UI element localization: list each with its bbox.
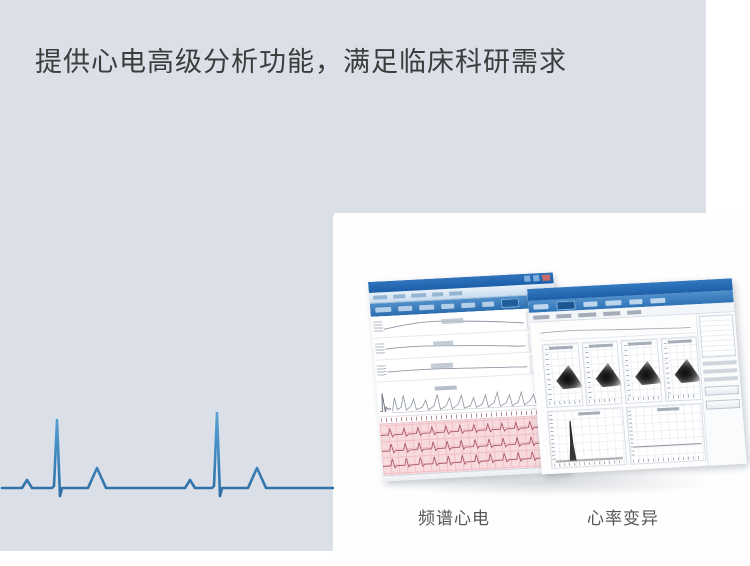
toolbar-button[interactable] bbox=[375, 307, 391, 313]
side-panel-button[interactable] bbox=[706, 399, 741, 410]
toolbar-button[interactable] bbox=[461, 302, 475, 308]
window-title-text bbox=[372, 283, 374, 288]
toolbar-button[interactable] bbox=[398, 306, 412, 312]
histogram-row bbox=[547, 400, 707, 469]
parameter-list[interactable] bbox=[699, 314, 736, 358]
toolbar-button[interactable] bbox=[605, 300, 621, 306]
tab-item[interactable] bbox=[533, 314, 549, 319]
poincare-plot[interactable] bbox=[581, 340, 623, 406]
tab-item[interactable] bbox=[556, 313, 571, 318]
poincare-plot-row bbox=[541, 333, 701, 408]
window-title-text bbox=[531, 291, 533, 296]
toolbar-button[interactable] bbox=[533, 303, 548, 309]
plot-grid bbox=[627, 404, 705, 464]
ecg-waveform bbox=[0, 400, 345, 510]
toolbar-button[interactable] bbox=[441, 304, 454, 310]
toolbar-button-active[interactable] bbox=[556, 300, 576, 310]
toolbar-button[interactable] bbox=[629, 298, 642, 304]
trend-annotation bbox=[433, 341, 453, 347]
hrv-plot-area bbox=[530, 314, 708, 474]
poincare-plot[interactable] bbox=[620, 338, 662, 404]
menu-item[interactable] bbox=[393, 294, 405, 299]
caption-hrv: 心率变异 bbox=[587, 504, 659, 529]
lead-label bbox=[375, 343, 385, 354]
toolbar-button[interactable] bbox=[650, 297, 665, 303]
slide-canvas: 提供心电高级分析功能，满足临床科研需求 bbox=[0, 0, 750, 566]
ecg-waveform-svg bbox=[0, 400, 345, 510]
histogram-plot[interactable] bbox=[626, 403, 707, 465]
toolbar-button-active[interactable] bbox=[501, 298, 520, 308]
caption-spectrum-ecg: 频谱心电 bbox=[418, 504, 490, 529]
parameter-row bbox=[702, 360, 736, 366]
tab-item[interactable] bbox=[627, 310, 641, 315]
lead-label bbox=[377, 365, 387, 376]
hrv-window[interactable] bbox=[527, 278, 747, 474]
window-content bbox=[530, 312, 747, 474]
toolbar-button[interactable] bbox=[419, 305, 434, 311]
menu-item[interactable] bbox=[449, 291, 462, 296]
page-title: 提供心电高级分析功能，满足临床科研需求 bbox=[35, 44, 567, 80]
parameter-row bbox=[704, 376, 738, 382]
toolbar-button[interactable] bbox=[482, 301, 494, 307]
toolbar-button[interactable] bbox=[583, 301, 597, 307]
poincare-plot[interactable] bbox=[660, 336, 702, 402]
menu-item[interactable] bbox=[411, 293, 426, 298]
background-block-top bbox=[0, 0, 706, 216]
histogram-plot[interactable] bbox=[547, 407, 628, 469]
menu-item[interactable] bbox=[373, 295, 387, 300]
tab-item[interactable] bbox=[603, 311, 620, 316]
parameter-row bbox=[703, 368, 737, 374]
poincare-plot[interactable] bbox=[541, 342, 583, 408]
window-control-buttons[interactable] bbox=[524, 274, 550, 281]
side-panel-button[interactable] bbox=[704, 385, 739, 396]
tab-item[interactable] bbox=[578, 312, 596, 317]
menu-item[interactable] bbox=[432, 292, 443, 297]
lead-label bbox=[373, 321, 383, 332]
